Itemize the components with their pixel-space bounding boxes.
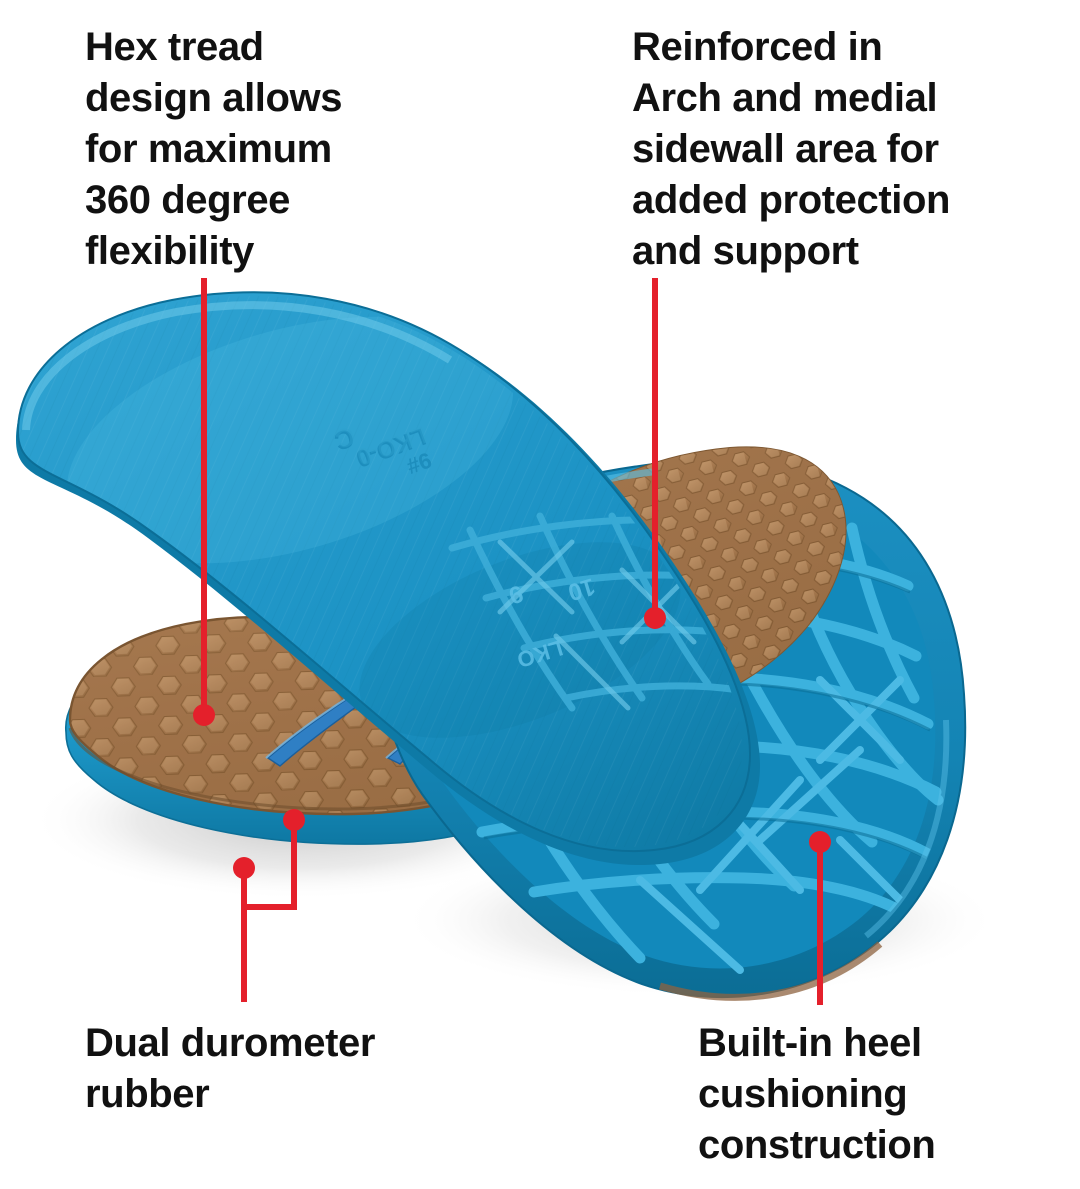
callout-reinforced-arch-text: Reinforced in Arch and medial sidewall a… bbox=[632, 22, 1042, 277]
product-photo: 9 10 LKO bbox=[0, 280, 1080, 1020]
leader-line-dual-durometer-stem bbox=[241, 904, 247, 1002]
leader-line-dual-durometer-crossbar bbox=[241, 904, 297, 910]
callout-hex-tread-text: Hex tread design allows for maximum 360 … bbox=[85, 22, 425, 277]
leader-line-reinforced-arch bbox=[652, 278, 658, 618]
illustration-canvas: 9 10 LKO bbox=[0, 0, 1080, 1189]
callout-heel-cushioning-text: Built-in heel cushioning construction bbox=[698, 1018, 1058, 1171]
leader-line-heel-cushioning bbox=[817, 842, 823, 1005]
sole-illustration: 9 10 LKO bbox=[0, 280, 1080, 1020]
leader-dot-reinforced-arch bbox=[644, 607, 666, 629]
leader-line-dual-durometer-right-branch bbox=[291, 820, 297, 910]
callout-dual-durometer-text: Dual durometer rubber bbox=[85, 1018, 485, 1120]
leader-line-hex-tread bbox=[201, 278, 207, 714]
leader-dot-hex-tread bbox=[193, 704, 215, 726]
